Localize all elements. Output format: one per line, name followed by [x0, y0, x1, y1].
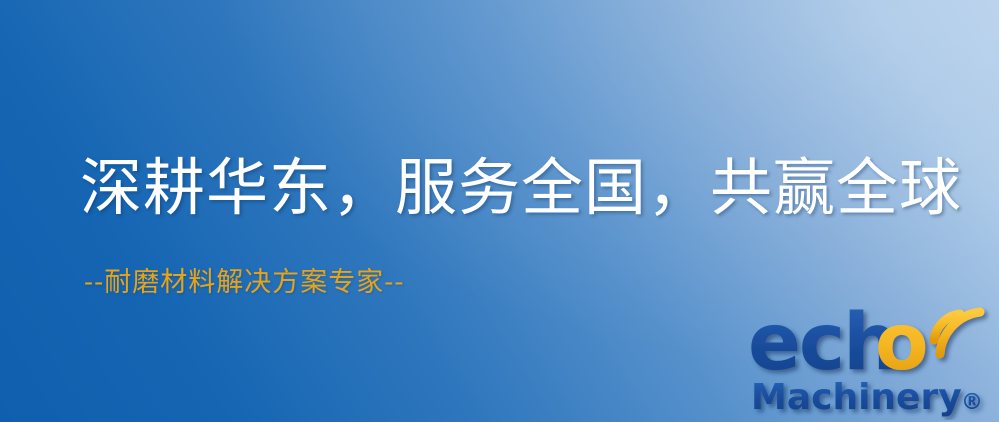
- echo-machinery-logo[interactable]: ech o Machinery ®: [748, 292, 996, 420]
- registered-trademark-mark: ®: [961, 390, 983, 415]
- page-title: 深耕华东，服务全国，共赢全球: [80, 151, 962, 225]
- logo-wordmark-o: o: [875, 298, 929, 388]
- hero-banner: 深耕华东，服务全国，共赢全球 --耐磨材料解决方案专家--: [0, 0, 999, 422]
- banner-subtitle: --耐磨材料解决方案专家--: [84, 266, 405, 300]
- signal-arcs-icon: [934, 312, 980, 354]
- logo-tagline: Machinery: [751, 377, 962, 418]
